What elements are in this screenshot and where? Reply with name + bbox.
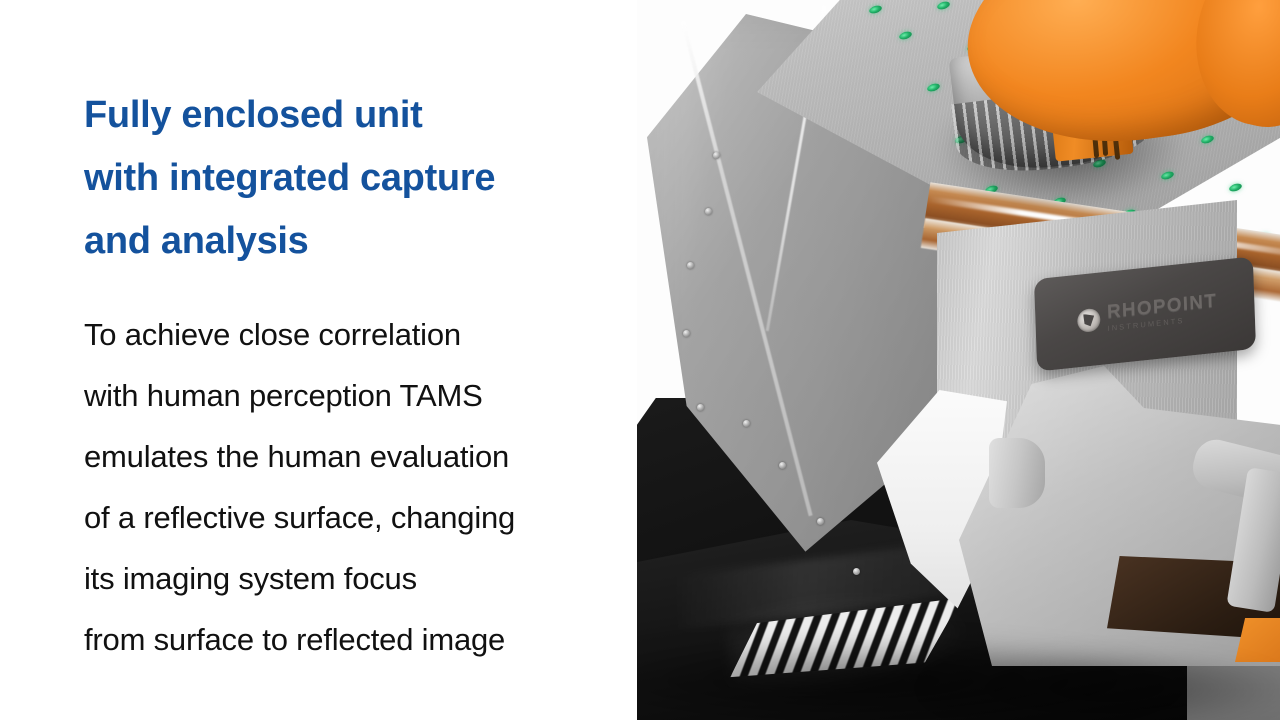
screw-head <box>743 420 750 427</box>
page-title: Fully enclosed unit with integrated capt… <box>84 84 619 273</box>
aperture-icon <box>1077 307 1101 332</box>
screw-head <box>683 330 690 337</box>
text-column: Fully enclosed unit with integrated capt… <box>0 0 637 720</box>
body-line-3: emulates the human evaluation <box>84 426 619 487</box>
screw-head <box>779 462 786 469</box>
photo-stage: RHOPOINT INSTRUMENTS <box>637 0 1280 720</box>
slide-root: Fully enclosed unit with integrated capt… <box>0 0 1280 720</box>
screw-head <box>705 208 712 215</box>
headline-line-2: with integrated capture <box>84 147 619 210</box>
ground-shadow-secondary <box>917 648 1280 720</box>
screw-head <box>697 404 704 411</box>
body-line-4: of a reflective surface, changing <box>84 487 619 548</box>
headline-line-1: Fully enclosed unit <box>84 84 619 147</box>
body-line-5: its imaging system focus <box>84 548 619 609</box>
screw-head <box>713 152 720 159</box>
headline-line-3: and analysis <box>84 210 619 273</box>
body-line-2: with human perception TAMS <box>84 365 619 426</box>
body-line-6: from surface to reflected image <box>84 609 619 670</box>
brand-wordmark: RHOPOINT INSTRUMENTS <box>1107 292 1218 333</box>
fixture-knob <box>989 438 1045 508</box>
screw-head <box>687 262 694 269</box>
body-paragraph: To achieve close correlation with human … <box>84 304 619 670</box>
product-photo: RHOPOINT INSTRUMENTS <box>637 0 1280 720</box>
body-line-1: To achieve close correlation <box>84 304 619 365</box>
screw-head <box>817 518 824 525</box>
screw-head <box>853 568 860 575</box>
